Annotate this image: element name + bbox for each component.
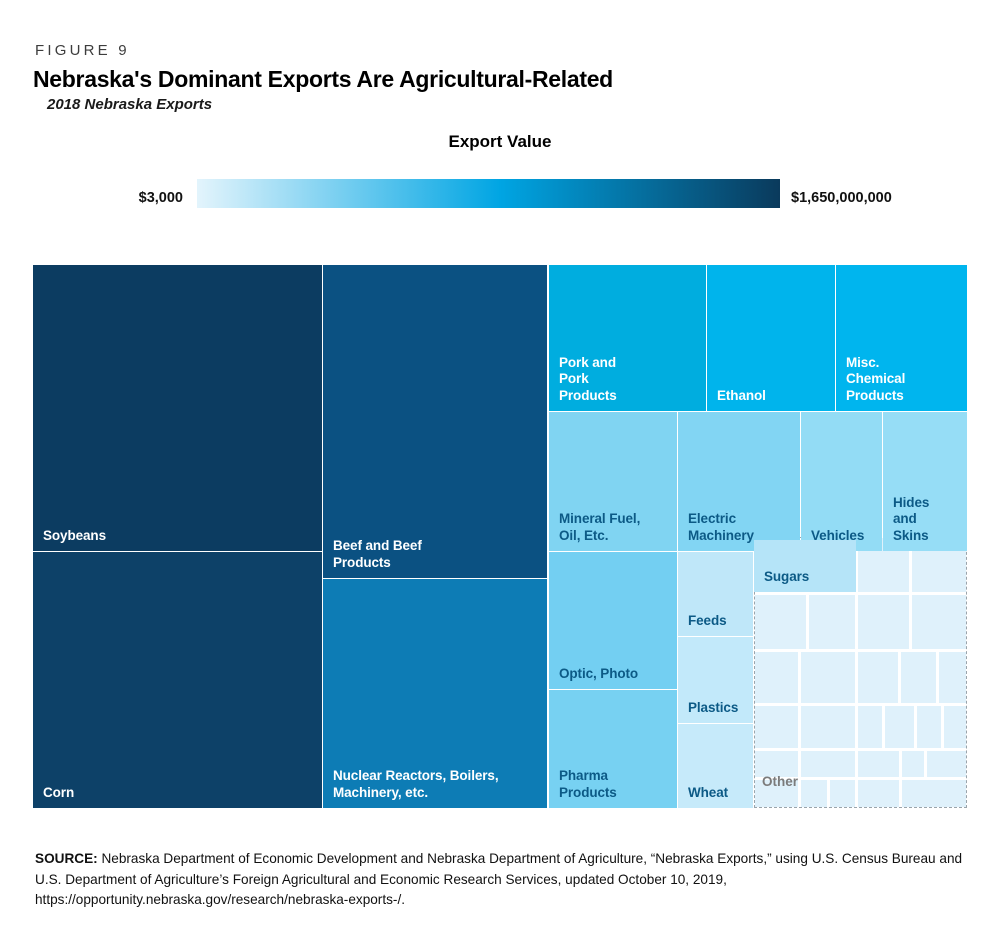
treemap-cell[interactable]: ElectricMachinery <box>678 412 800 551</box>
figure-number-label: FIGURE 9 <box>35 42 130 59</box>
treemap-cell-label: Feeds <box>688 613 727 629</box>
treemap-cell-label: HidesandSkins <box>893 495 929 544</box>
treemap-other-cell[interactable] <box>809 595 855 649</box>
legend-color-gradient <box>197 179 780 208</box>
treemap-cell-label: Ethanol <box>717 388 766 404</box>
treemap-other-label: Other <box>762 774 798 789</box>
treemap-other-cell[interactable] <box>858 595 909 649</box>
treemap-other-cell[interactable] <box>912 595 966 649</box>
treemap-cell[interactable]: Pork andPorkProducts <box>549 265 706 411</box>
treemap-other-cell[interactable] <box>801 751 855 777</box>
treemap-cell[interactable]: Ethanol <box>707 265 835 411</box>
source-note: SOURCE: Nebraska Department of Economic … <box>35 849 970 911</box>
treemap-cell-label: Soybeans <box>43 528 106 544</box>
source-prefix: SOURCE: <box>35 851 98 866</box>
treemap-cell[interactable]: Feeds <box>678 552 753 636</box>
treemap-cell[interactable]: Wheat <box>678 724 753 808</box>
source-text: Nebraska Department of Economic Developm… <box>35 851 962 907</box>
treemap-other-cell[interactable] <box>917 706 941 748</box>
treemap-cell-label: Pork andPorkProducts <box>559 355 617 404</box>
treemap-cell-label: Plastics <box>688 700 738 716</box>
treemap-cell-label: Wheat <box>688 785 728 801</box>
treemap-other-cell[interactable] <box>939 652 966 703</box>
figure-page: FIGURE 9 Nebraska's Dominant Exports Are… <box>0 0 1000 942</box>
treemap-cell[interactable]: Corn <box>33 552 322 808</box>
treemap-cell[interactable]: Beef and BeefProducts <box>323 265 547 578</box>
treemap-cell[interactable]: Plastics <box>678 637 753 723</box>
treemap-cell-label: ElectricMachinery <box>688 511 754 544</box>
treemap-chart: OtherSoybeansCornBeef and BeefProductsNu… <box>33 265 967 808</box>
treemap-cell[interactable]: Sugars <box>754 540 856 592</box>
treemap-other-cell[interactable] <box>801 652 855 703</box>
page-title: Nebraska's Dominant Exports Are Agricult… <box>33 66 613 93</box>
treemap-cell[interactable]: PharmaProducts <box>549 690 677 808</box>
treemap-other-cell[interactable] <box>755 652 798 703</box>
treemap-other-cell[interactable] <box>858 751 899 777</box>
treemap-cell-label: Sugars <box>764 569 809 585</box>
treemap-other-cell[interactable] <box>801 706 855 748</box>
treemap-other-cell[interactable] <box>755 595 806 649</box>
treemap-other-cell[interactable] <box>755 706 798 748</box>
treemap-cell[interactable]: Soybeans <box>33 265 322 551</box>
chart-subtitle: 2018 Nebraska Exports <box>47 96 212 113</box>
treemap-cell-label: Misc.ChemicalProducts <box>846 355 905 404</box>
treemap-other-cell[interactable] <box>885 706 914 748</box>
treemap-other-cell[interactable] <box>944 706 966 748</box>
treemap-cell[interactable]: Mineral Fuel,Oil, Etc. <box>549 412 677 551</box>
treemap-other-cell[interactable] <box>858 706 882 748</box>
treemap-cell-label: PharmaProducts <box>559 768 617 801</box>
treemap-cell[interactable]: Misc.ChemicalProducts <box>836 265 967 411</box>
legend-max-label: $1,650,000,000 <box>791 190 892 206</box>
legend-min-label: $3,000 <box>139 190 183 206</box>
treemap-cell[interactable]: HidesandSkins <box>883 412 967 551</box>
treemap-other-cell[interactable] <box>858 780 899 807</box>
legend-title: Export Value <box>0 132 1000 152</box>
treemap-other-cell[interactable] <box>901 652 936 703</box>
treemap-cell[interactable]: Optic, Photo <box>549 552 677 689</box>
treemap-cell-label: Mineral Fuel,Oil, Etc. <box>559 511 640 544</box>
treemap-cell-label: Nuclear Reactors, Boilers,Machinery, etc… <box>333 768 498 801</box>
treemap-other-cell[interactable] <box>858 652 898 703</box>
treemap-other-cell[interactable] <box>801 780 827 807</box>
treemap-other-cell[interactable] <box>927 751 966 777</box>
treemap-cell-label: Corn <box>43 785 74 801</box>
treemap-cell-label: Optic, Photo <box>559 666 638 682</box>
treemap-other-cell[interactable] <box>830 780 855 807</box>
treemap-other-cell[interactable] <box>902 780 966 807</box>
treemap-cell-label: Beef and BeefProducts <box>333 538 422 571</box>
treemap-cell[interactable]: Nuclear Reactors, Boilers,Machinery, etc… <box>323 579 547 808</box>
treemap-other-cell[interactable] <box>902 751 924 777</box>
treemap-cell[interactable]: Vehicles <box>801 412 882 551</box>
